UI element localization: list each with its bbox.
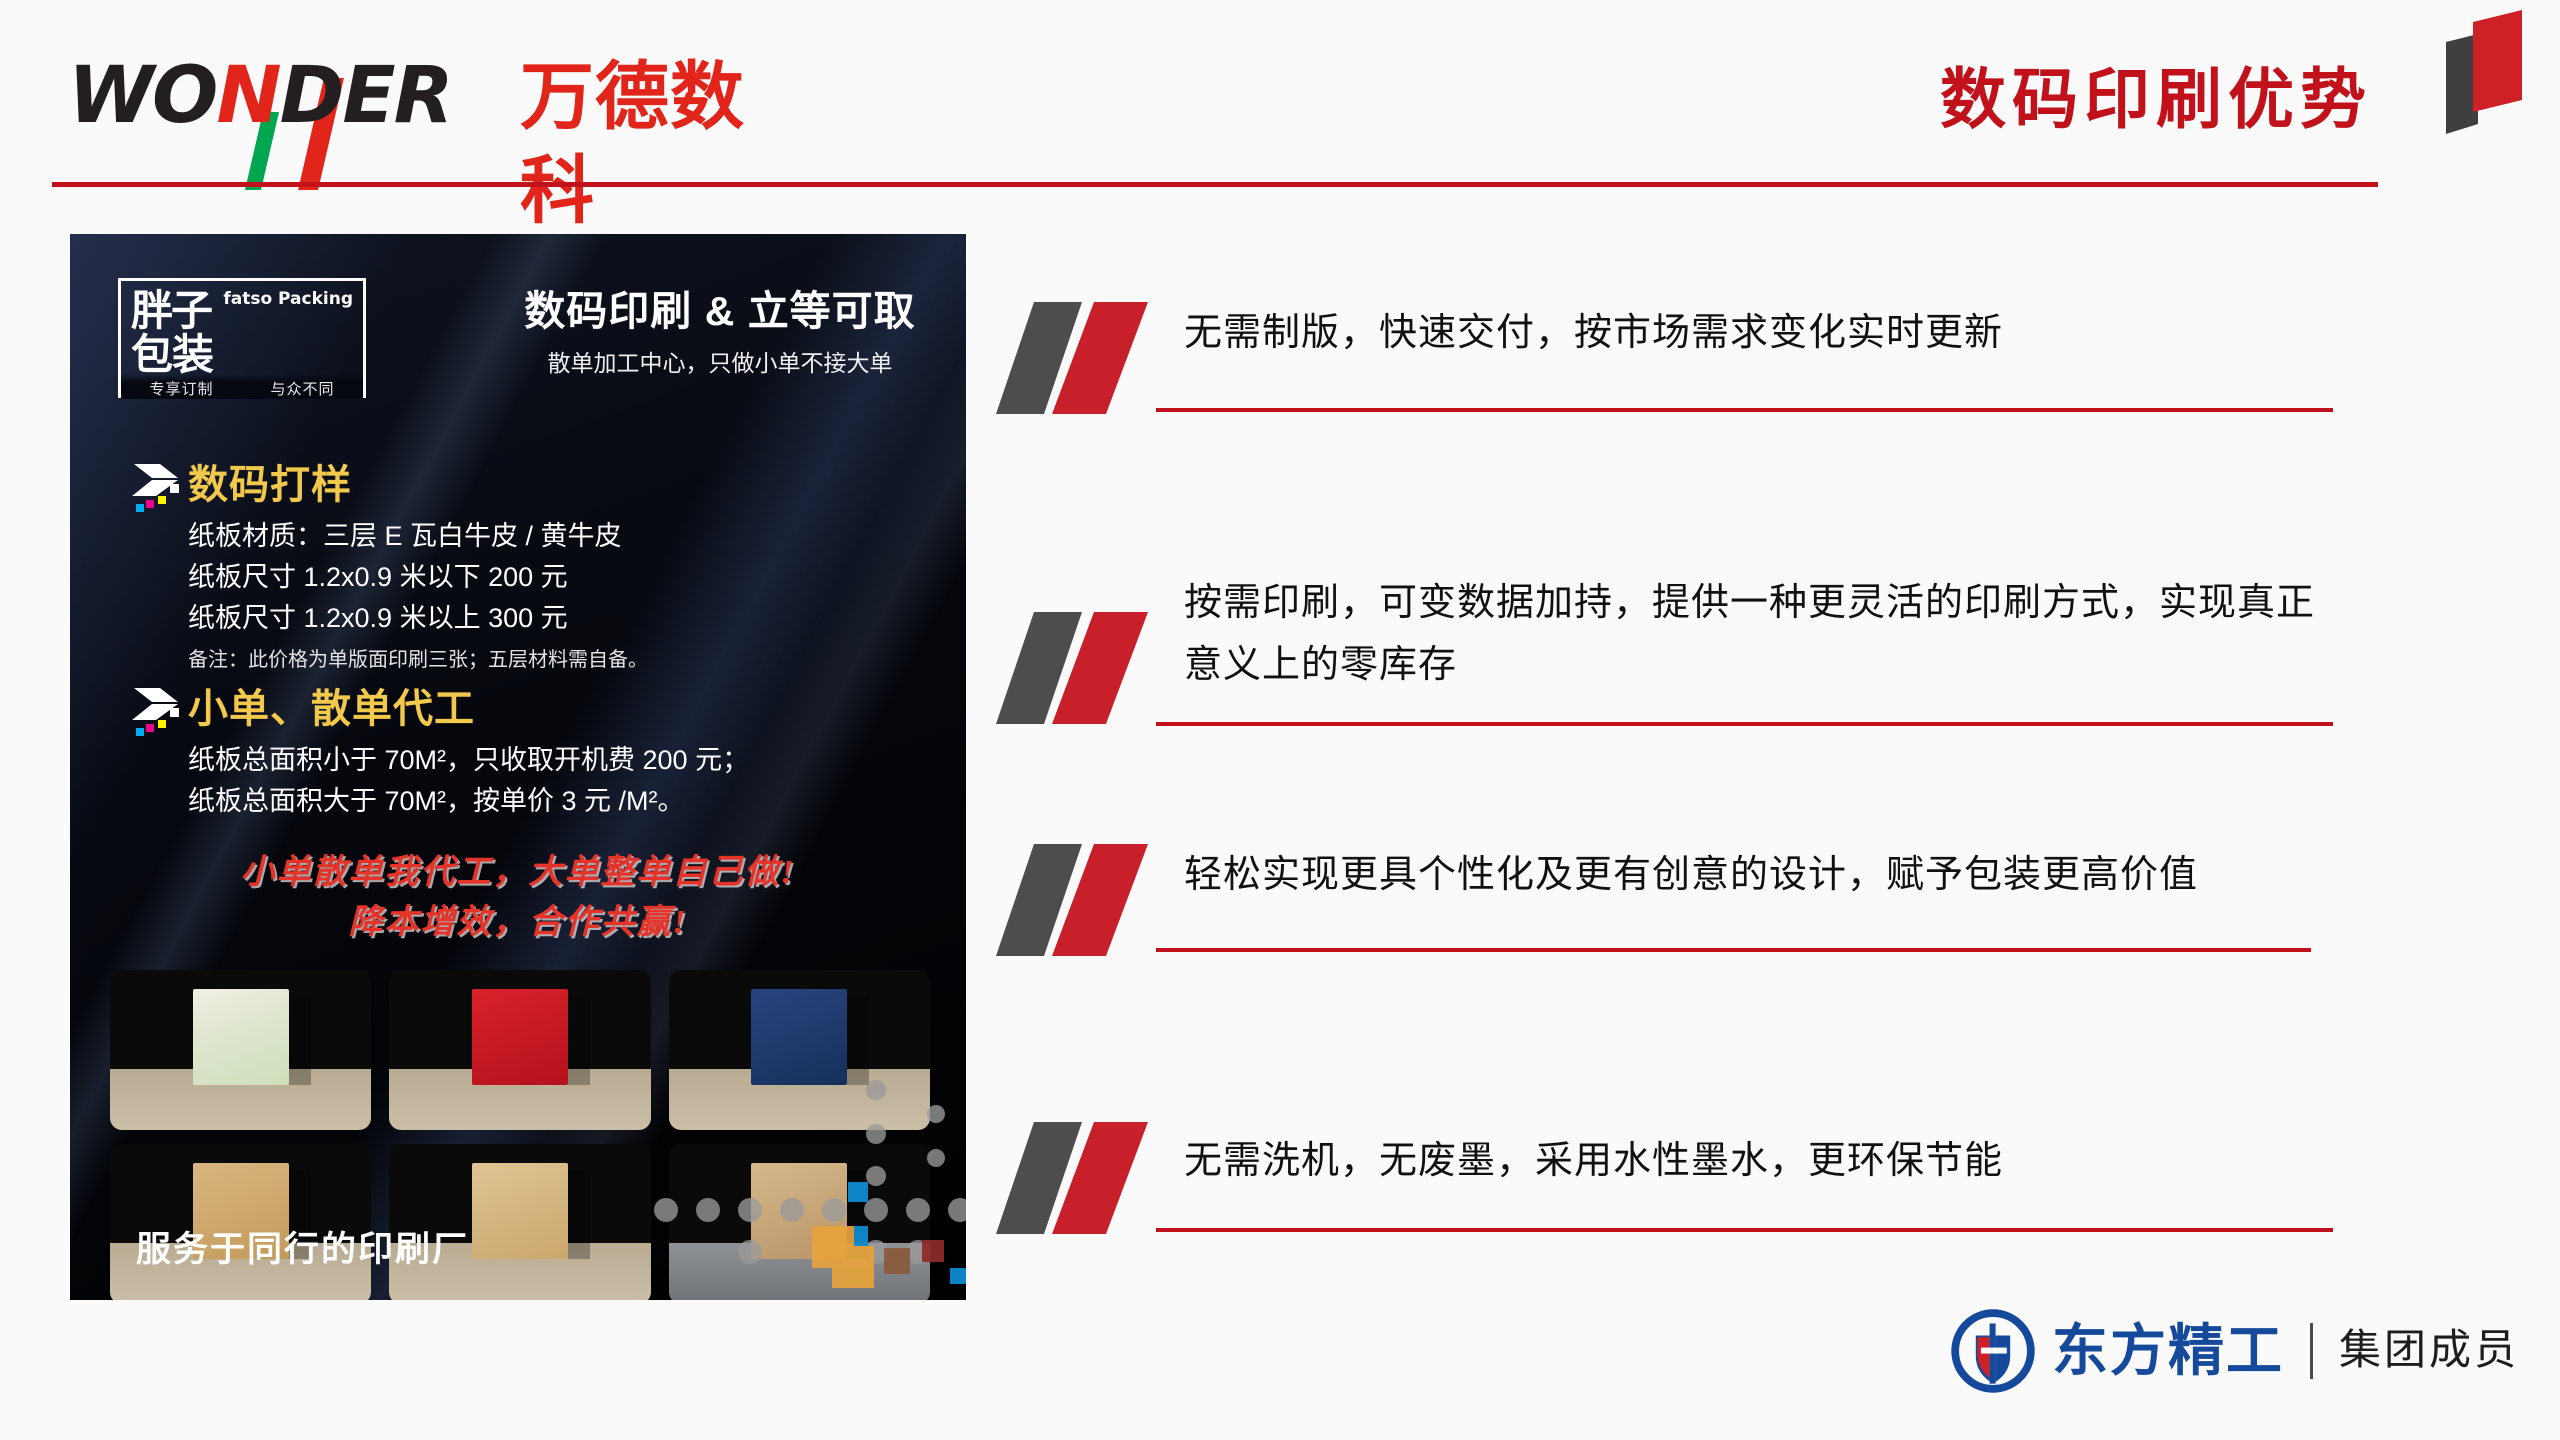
- footer-member-label: 集团成员: [2339, 1323, 2519, 1379]
- poster-logo-tag-right: 与众不同: [270, 378, 334, 399]
- poster-section-title: 数码打样: [188, 460, 648, 510]
- poster-slogan-line-1: 小单散单我代工，大单整单自己做!: [70, 848, 966, 898]
- chevron-arrow-icon: [128, 686, 190, 738]
- poster-logo-tagline: 专享订制 与众不同: [121, 374, 363, 399]
- double-slash-marker-icon: [996, 838, 1186, 966]
- poster-logo-english: fatso Packing: [223, 289, 353, 309]
- bullet-underline: [1156, 1228, 2333, 1232]
- poster-section-line: 纸板总面积大于 70M²，按单价 3 元 /M²。: [188, 781, 749, 822]
- poster-section-line: 纸板总面积小于 70M²，只收取开机费 200 元；: [188, 740, 749, 781]
- footer-company-name: 东方精工: [2052, 1319, 2284, 1383]
- poster-headline: 数码印刷 & 立等可取: [510, 286, 930, 336]
- brand-wordmark-der: DER: [280, 51, 452, 141]
- dot-pattern-decoration: [636, 1030, 966, 1300]
- poster-headline-group: 数码印刷 & 立等可取 散单加工中心，只做小单不接大单: [510, 286, 930, 378]
- poster-section-title: 小单、散单代工: [188, 684, 749, 734]
- poster-logo-sub: 包装: [131, 333, 213, 377]
- poster-photo: [389, 970, 650, 1130]
- header-divider: [52, 182, 2378, 187]
- poster-caption: 服务于同行的印刷厂: [136, 1221, 469, 1272]
- bullet-text: 无需制版，快速交付，按市场需求变化实时更新: [1184, 302, 2334, 364]
- bullet-text: 轻松实现更具个性化及更有创意的设计，赋予包装更高价值: [1184, 844, 2334, 906]
- bullet-text: 无需洗机，无废墨，采用水性墨水，更环保节能: [1184, 1130, 2334, 1192]
- poster-subheadline: 散单加工中心，只做小单不接大单: [510, 344, 930, 378]
- poster-panel: 胖子 fatso Packing 包装 专享订制 与众不同 数码印刷 & 立等可…: [70, 234, 966, 1300]
- poster-logo-tag-left: 专享订制: [149, 378, 213, 399]
- double-slash-marker-icon: [996, 1116, 1186, 1244]
- brand-wordmark-latin: WONDER: [68, 50, 452, 142]
- footer-branding: 东方精工 集团成员: [1950, 1308, 2519, 1394]
- brand-wordmark-chinese: 万德数科: [520, 50, 808, 238]
- poster-photo: [110, 970, 371, 1130]
- poster-section-note: 备注：此价格为单版面印刷三张；五层材料需自备。: [188, 643, 648, 677]
- chevron-arrow-icon: [128, 462, 190, 514]
- poster-slogan: 小单散单我代工，大单整单自己做! 降本增效，合作共赢!: [70, 848, 966, 948]
- double-slash-marker-icon: [996, 606, 1186, 734]
- page-title: 数码印刷优势: [1940, 46, 2372, 142]
- poster-logo-main: 胖子: [131, 289, 211, 333]
- poster-section-small-order-oem: 小单、散单代工 纸板总面积小于 70M²，只收取开机费 200 元； 纸板总面积…: [188, 684, 749, 822]
- brand-logo: WONDER 万德数科: [68, 50, 808, 142]
- dongfang-jinggong-logo-icon: [1950, 1308, 2036, 1394]
- brand-wordmark-wo: WO: [68, 51, 216, 141]
- poster-section-line: 纸板尺寸 1.2x0.9 米以下 200 元: [188, 557, 648, 598]
- poster-section-line: 纸板材质：三层 E 瓦白牛皮 / 黄牛皮: [188, 516, 648, 557]
- poster-slogan-line-2: 降本增效，合作共赢!: [70, 898, 966, 948]
- poster-section-digital-proofing: 数码打样 纸板材质：三层 E 瓦白牛皮 / 黄牛皮 纸板尺寸 1.2x0.9 米…: [188, 460, 648, 677]
- corner-decoration-icon: [2418, 0, 2538, 160]
- slide-root: WONDER 万德数科 数码印刷优势 胖子 fatso Packing 包装 专…: [0, 0, 2560, 1440]
- poster-section-line: 纸板尺寸 1.2x0.9 米以上 300 元: [188, 598, 648, 639]
- bullet-text: 按需印刷，可变数据加持，提供一种更灵活的印刷方式，实现真正意义上的零库存: [1184, 572, 2334, 696]
- bullet-underline: [1156, 948, 2311, 952]
- bullet-underline: [1156, 408, 2333, 412]
- poster-logo: 胖子 fatso Packing 包装 专享订制 与众不同: [118, 278, 366, 398]
- brand-wordmark-n: N: [216, 51, 279, 141]
- double-slash-marker-icon: [996, 296, 1186, 424]
- footer-divider: [2310, 1323, 2313, 1379]
- bullet-underline: [1156, 722, 2333, 726]
